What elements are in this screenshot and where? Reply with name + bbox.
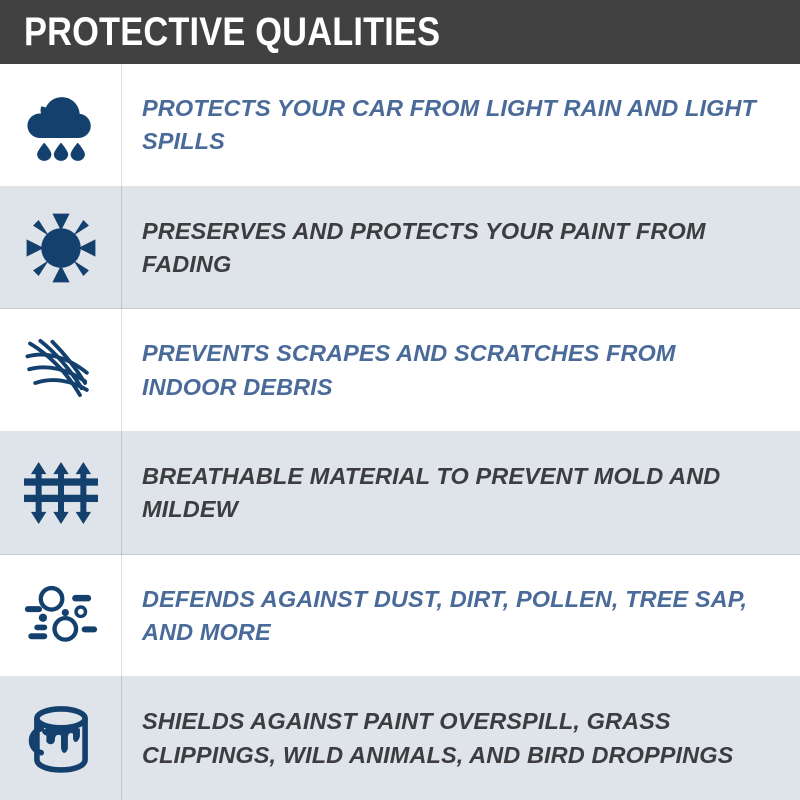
feature-list: PROTECTS YOUR CAR FROM LIGHT RAIN AND LI… (0, 64, 800, 800)
feature-text: PREVENTS SCRAPES AND SCRATCHES FROM INDO… (142, 337, 772, 404)
icon-cell (0, 187, 122, 310)
icon-cell (0, 432, 122, 555)
feature-row: PREVENTS SCRAPES AND SCRATCHES FROM INDO… (0, 309, 800, 432)
text-cell: PRESERVES AND PROTECTS YOUR PAINT FROM F… (122, 187, 800, 310)
sun-icon (18, 205, 104, 291)
icon-cell (0, 677, 122, 800)
icon-cell (0, 309, 122, 432)
feature-text: BREATHABLE MATERIAL TO PREVENT MOLD AND … (142, 460, 772, 527)
text-cell: DEFENDS AGAINST DUST, DIRT, POLLEN, TREE… (122, 555, 800, 678)
rain-cloud-icon (18, 82, 104, 168)
text-cell: PREVENTS SCRAPES AND SCRATCHES FROM INDO… (122, 309, 800, 432)
header-bar: PROTECTIVE QUALITIES (0, 0, 800, 64)
text-cell: PROTECTS YOUR CAR FROM LIGHT RAIN AND LI… (122, 64, 800, 187)
breathable-airflow-icon (18, 450, 104, 536)
feature-row: PROTECTS YOUR CAR FROM LIGHT RAIN AND LI… (0, 64, 800, 187)
mesh-net-icon (18, 328, 104, 414)
feature-text: PROTECTS YOUR CAR FROM LIGHT RAIN AND LI… (142, 92, 772, 159)
feature-row: PRESERVES AND PROTECTS YOUR PAINT FROM F… (0, 187, 800, 310)
feature-row: SHIELDS AGAINST PAINT OVERSPILL, GRASS C… (0, 677, 800, 800)
feature-row: BREATHABLE MATERIAL TO PREVENT MOLD AND … (0, 432, 800, 555)
text-cell: SHIELDS AGAINST PAINT OVERSPILL, GRASS C… (122, 677, 800, 800)
feature-text: PRESERVES AND PROTECTS YOUR PAINT FROM F… (142, 215, 772, 282)
protective-qualities-infographic: PROTECTIVE QUALITIES PROTEC (0, 0, 800, 800)
feature-row: DEFENDS AGAINST DUST, DIRT, POLLEN, TREE… (0, 555, 800, 678)
text-cell: BREATHABLE MATERIAL TO PREVENT MOLD AND … (122, 432, 800, 555)
paint-can-icon (18, 696, 104, 782)
feature-text: SHIELDS AGAINST PAINT OVERSPILL, GRASS C… (142, 705, 772, 772)
feature-text: DEFENDS AGAINST DUST, DIRT, POLLEN, TREE… (142, 583, 772, 650)
dust-particles-icon (18, 573, 104, 659)
icon-cell (0, 555, 122, 678)
icon-cell (0, 64, 122, 187)
page-title: PROTECTIVE QUALITIES (24, 12, 440, 52)
